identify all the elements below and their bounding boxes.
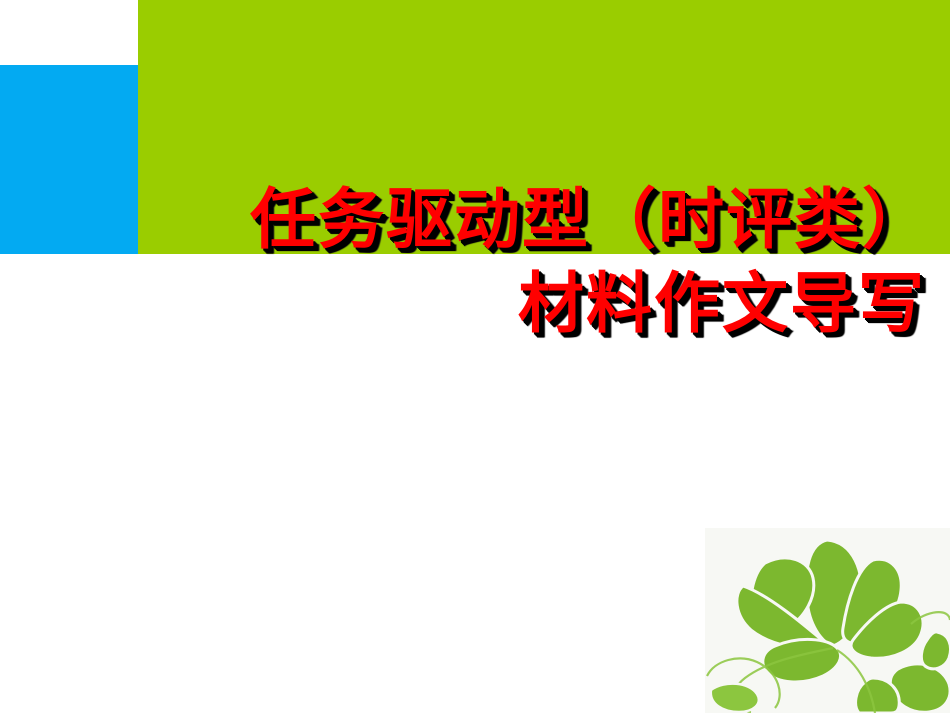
slide-title-line-2: 材料作文导写 — [0, 262, 930, 346]
floral-leaf-ornament-icon — [705, 528, 950, 713]
floral-ornament-panel — [705, 528, 950, 713]
presentation-slide: 任务驱动型（时评类） 材料作文导写 — [0, 0, 950, 713]
slide-title: 任务驱动型（时评类） 材料作文导写 — [0, 178, 940, 346]
slide-title-line-1: 任务驱动型（时评类） — [0, 178, 930, 262]
